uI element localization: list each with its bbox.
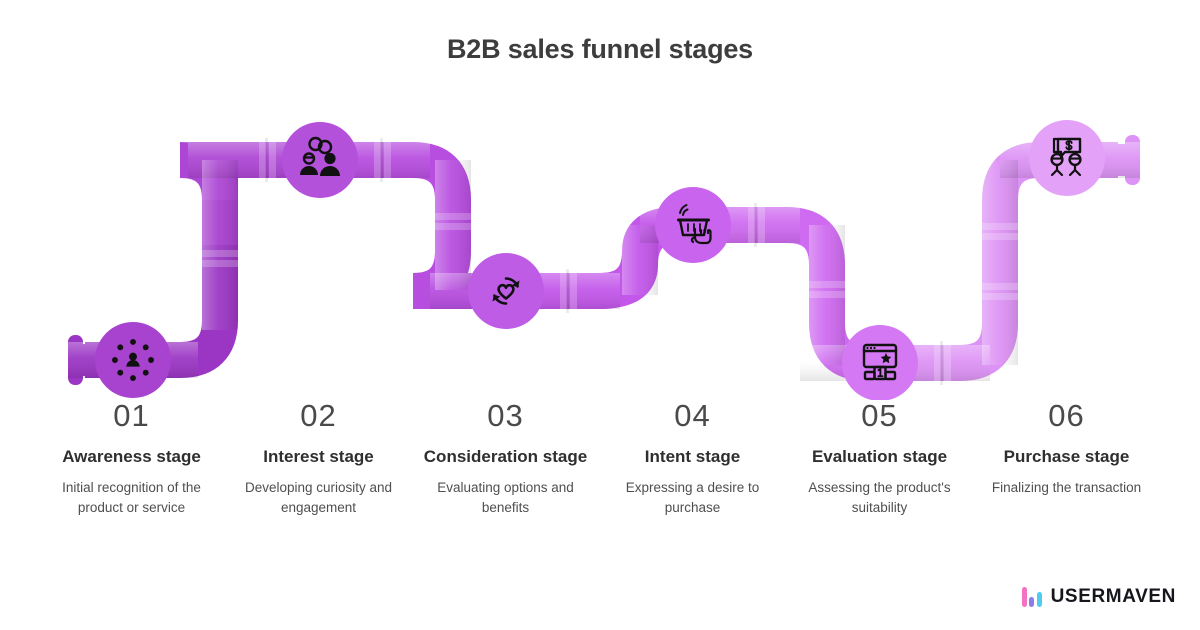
stage-number: 06	[977, 398, 1156, 434]
funnel-pipeline-diagram	[0, 95, 1200, 400]
stage-node-5[interactable]	[842, 325, 918, 400]
stage-caption-5: 05 Evaluation stage Assessing the produc…	[786, 398, 973, 518]
stage-title: Purchase stage	[977, 446, 1156, 468]
stage-node-1[interactable]	[95, 322, 171, 398]
logo-bar-3	[1037, 592, 1042, 607]
stage-node-6[interactable]	[1029, 120, 1105, 196]
stage-number: 03	[416, 398, 595, 434]
stage-description: Initial recognition of the product or se…	[42, 478, 221, 517]
stage-title: Evaluation stage	[790, 446, 969, 468]
usermaven-logo[interactable]: USERMAVEN	[1022, 586, 1176, 608]
stage-title: Consideration stage	[416, 446, 595, 468]
stage-number: 05	[790, 398, 969, 434]
stage-caption-4: 04 Intent stage Expressing a desire to p…	[599, 398, 786, 518]
stage-node-4[interactable]	[655, 187, 731, 263]
stage-caption-3: 03 Consideration stage Evaluating option…	[412, 398, 599, 518]
stage-description: Assessing the product's suitability	[790, 478, 969, 517]
stage-caption-1: 01 Awareness stage Initial recognition o…	[38, 398, 225, 518]
usermaven-logo-text: USERMAVEN	[1051, 586, 1176, 608]
stage-captions-row: 01 Awareness stage Initial recognition o…	[0, 398, 1200, 588]
page-title: B2B sales funnel stages	[0, 34, 1200, 65]
stage-caption-6: 06 Purchase stage Finalizing the transac…	[973, 398, 1160, 498]
stage-title: Interest stage	[229, 446, 408, 468]
stage-title: Intent stage	[603, 446, 782, 468]
pipe-end-cap-right	[1125, 135, 1140, 185]
pipe-end-cap-left	[68, 335, 83, 385]
stage-title: Awareness stage	[42, 446, 221, 468]
stage-node-3[interactable]	[468, 253, 544, 329]
stage-description: Developing curiosity and engagement	[229, 478, 408, 517]
stage-description: Expressing a desire to purchase	[603, 478, 782, 517]
usermaven-logo-mark-icon	[1022, 587, 1042, 607]
stage-caption-2: 02 Interest stage Developing curiosity a…	[225, 398, 412, 518]
stage-description: Finalizing the transaction	[977, 478, 1156, 498]
stage-description: Evaluating options and benefits	[416, 478, 595, 517]
logo-bar-1	[1022, 587, 1027, 607]
stage-number: 01	[42, 398, 221, 434]
stage-number: 04	[603, 398, 782, 434]
stage-number: 02	[229, 398, 408, 434]
logo-bar-2	[1029, 597, 1034, 607]
stage-node-2[interactable]	[282, 122, 358, 198]
